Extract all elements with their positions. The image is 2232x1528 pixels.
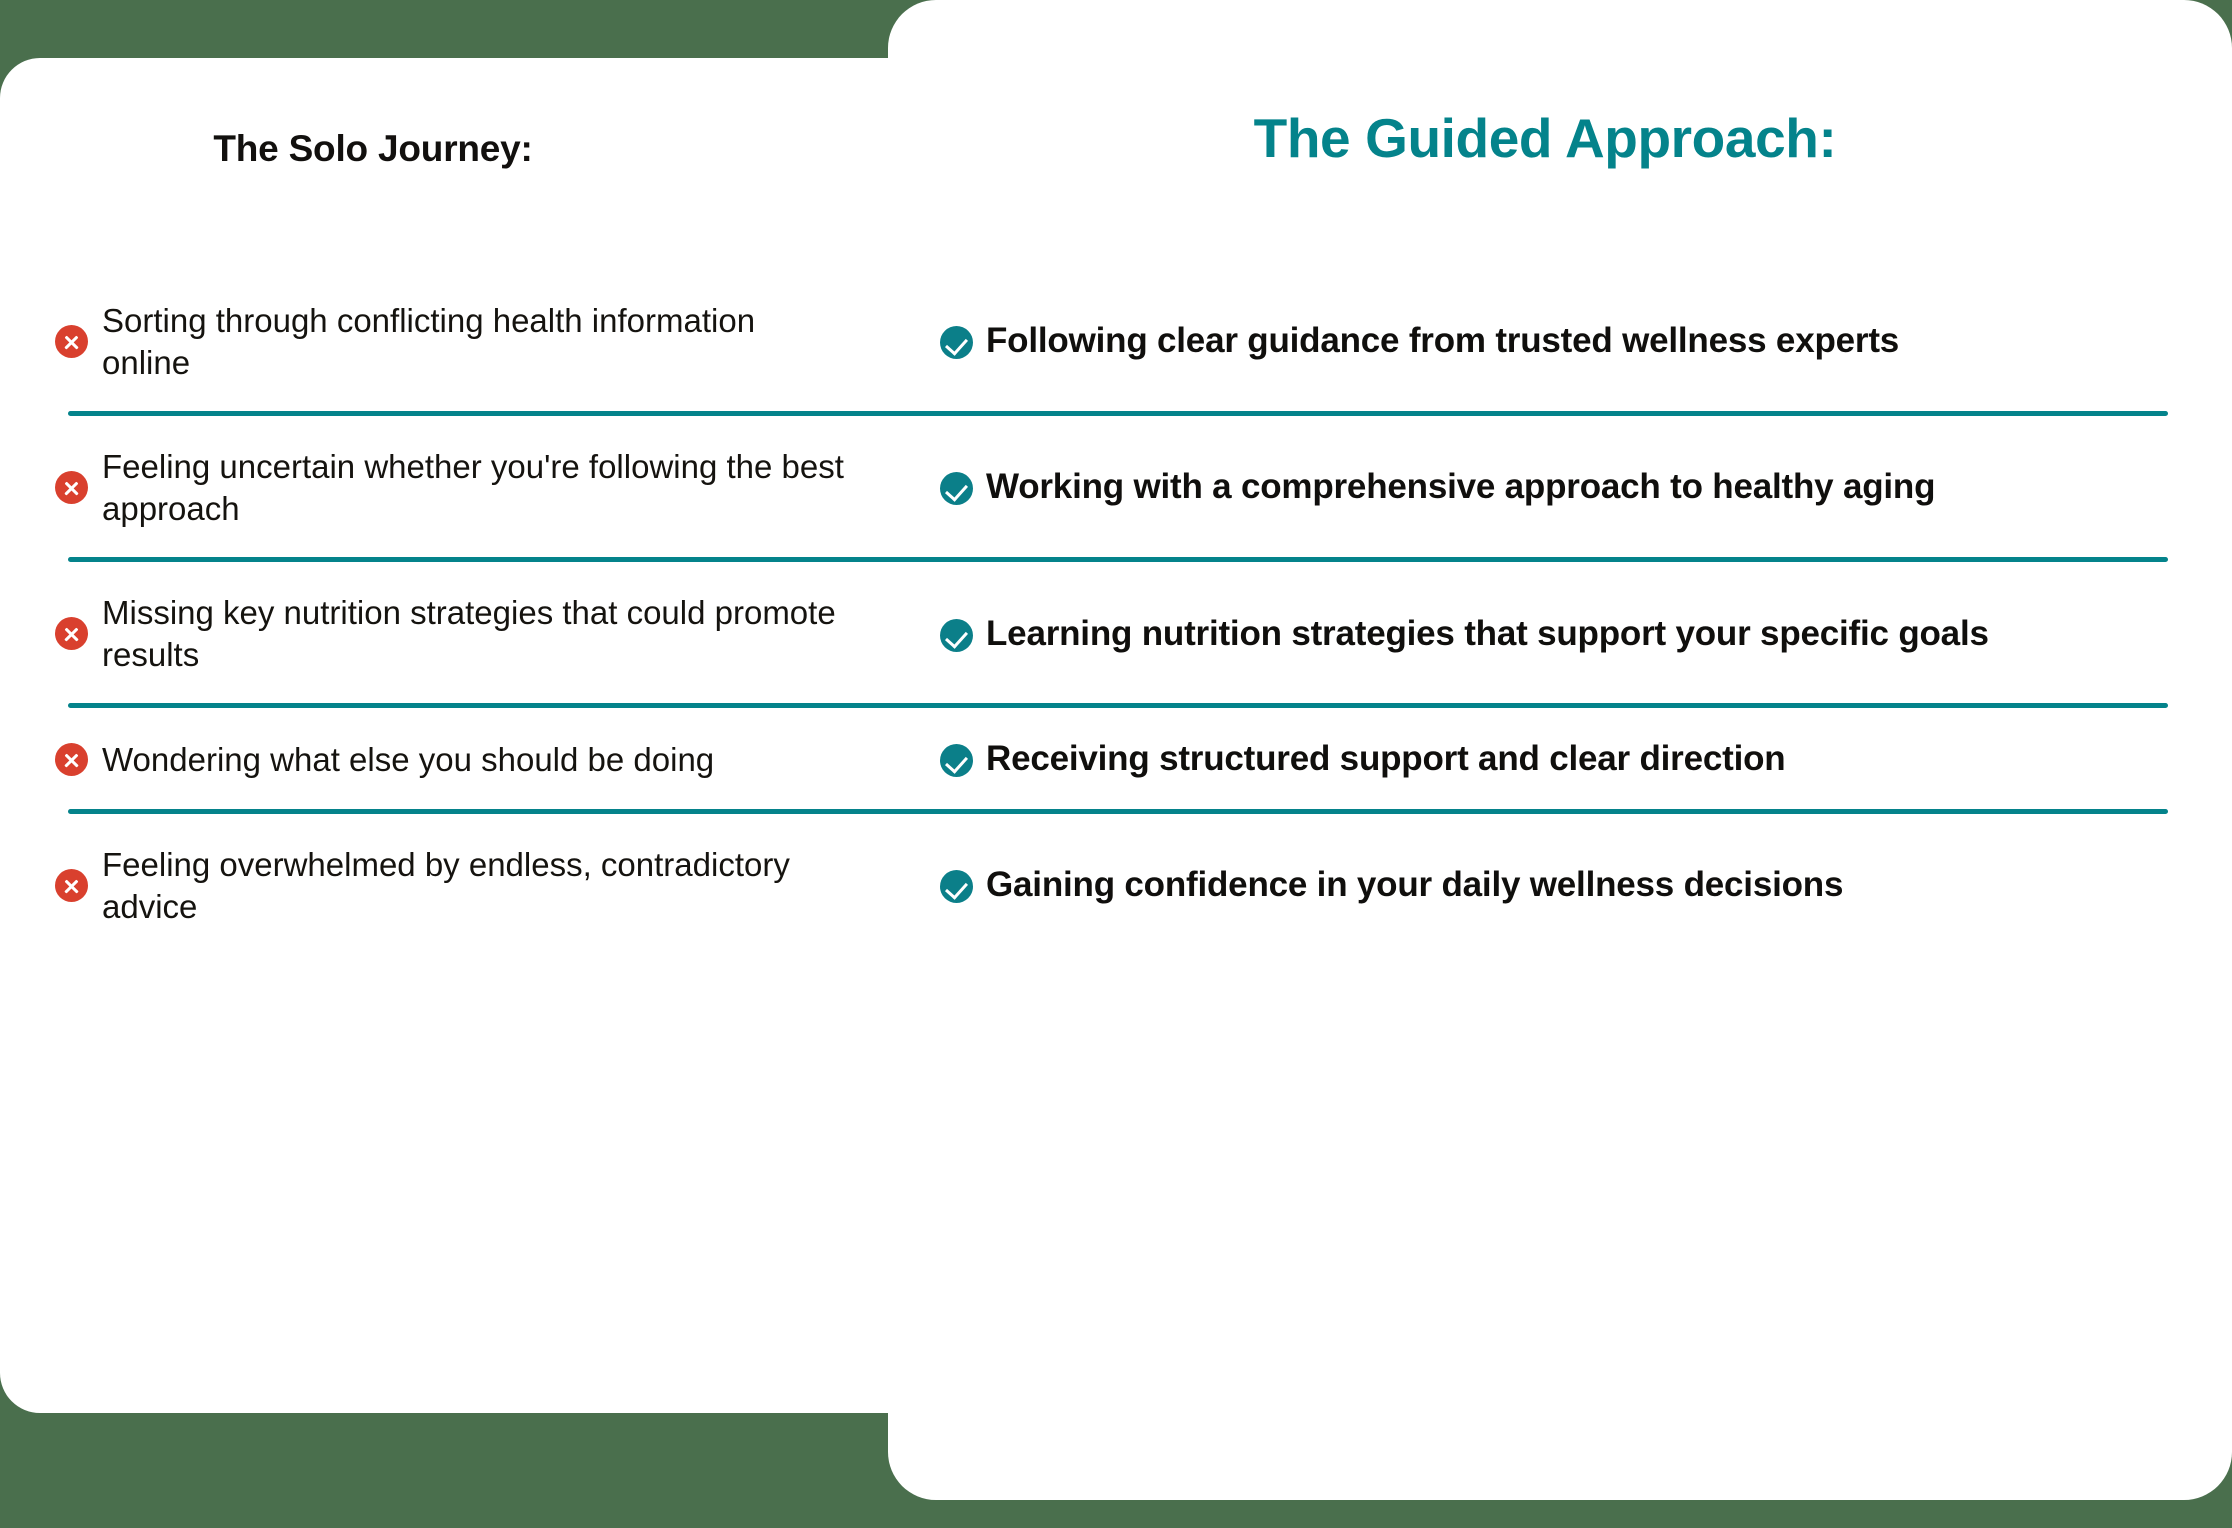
row-left-cell: Missing key nutrition strategies that co… bbox=[0, 592, 888, 675]
table-row: Sorting through conflicting health infor… bbox=[0, 300, 2232, 383]
guided-approach-item: Learning nutrition strategies that suppo… bbox=[986, 613, 1989, 656]
table-row: Wondering what else you should be doing … bbox=[0, 738, 2232, 781]
comparison-table: The Solo Journey: The Guided Approach: S… bbox=[0, 0, 2232, 1528]
guided-approach-item: Working with a comprehensive approach to… bbox=[986, 466, 1935, 509]
row-left-cell: Feeling overwhelmed by endless, contradi… bbox=[0, 844, 888, 927]
comparison-rows: Sorting through conflicting health infor… bbox=[0, 300, 2232, 927]
solo-journey-item: Feeling uncertain whether you're followi… bbox=[102, 446, 848, 529]
check-circle-icon bbox=[940, 870, 973, 903]
table-row: Missing key nutrition strategies that co… bbox=[0, 592, 2232, 675]
row-right-cell: Learning nutrition strategies that suppo… bbox=[888, 613, 2232, 656]
solo-journey-item: Missing key nutrition strategies that co… bbox=[102, 592, 848, 675]
check-circle-icon bbox=[940, 744, 973, 777]
x-circle-icon bbox=[55, 743, 88, 776]
row-left-cell: Wondering what else you should be doing bbox=[0, 739, 888, 781]
x-circle-icon bbox=[55, 471, 88, 504]
guided-approach-item: Gaining confidence in your daily wellnes… bbox=[986, 864, 1843, 907]
solo-journey-heading: The Solo Journey: bbox=[68, 128, 678, 170]
row-right-cell: Receiving structured support and clear d… bbox=[888, 738, 2232, 781]
x-circle-icon bbox=[55, 869, 88, 902]
check-circle-icon bbox=[940, 326, 973, 359]
x-circle-icon bbox=[55, 325, 88, 358]
row-right-cell: Working with a comprehensive approach to… bbox=[888, 466, 2232, 509]
x-circle-icon bbox=[55, 617, 88, 650]
row-right-cell: Following clear guidance from trusted we… bbox=[888, 320, 2232, 363]
guided-approach-item: Following clear guidance from trusted we… bbox=[986, 320, 1899, 363]
solo-journey-item: Sorting through conflicting health infor… bbox=[102, 300, 848, 383]
check-circle-icon bbox=[940, 472, 973, 505]
row-divider bbox=[68, 557, 2168, 562]
column-headers: The Solo Journey: The Guided Approach: bbox=[0, 128, 2232, 198]
check-circle-icon bbox=[940, 619, 973, 652]
row-left-cell: Feeling uncertain whether you're followi… bbox=[0, 446, 888, 529]
solo-journey-item: Feeling overwhelmed by endless, contradi… bbox=[102, 844, 848, 927]
guided-approach-heading: The Guided Approach: bbox=[900, 106, 2190, 170]
row-left-cell: Sorting through conflicting health infor… bbox=[0, 300, 888, 383]
solo-journey-item: Wondering what else you should be doing bbox=[102, 739, 714, 781]
guided-approach-item: Receiving structured support and clear d… bbox=[986, 738, 1785, 781]
row-right-cell: Gaining confidence in your daily wellnes… bbox=[888, 864, 2232, 907]
row-divider bbox=[68, 703, 2168, 708]
row-divider bbox=[68, 809, 2168, 814]
table-row: Feeling uncertain whether you're followi… bbox=[0, 446, 2232, 529]
table-row: Feeling overwhelmed by endless, contradi… bbox=[0, 844, 2232, 927]
row-divider bbox=[68, 411, 2168, 416]
